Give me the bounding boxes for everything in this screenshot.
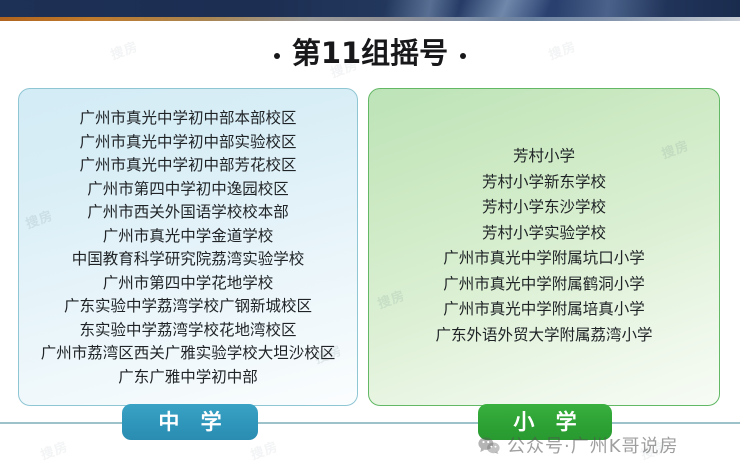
title-dot-right xyxy=(460,53,466,59)
title-dot-left xyxy=(274,53,280,59)
list-item: 广州市第四中学花地学校 xyxy=(19,272,357,296)
list-item: 芳村小学实验学校 xyxy=(369,221,719,247)
badge-connector-line xyxy=(370,422,478,424)
badge-connector-line xyxy=(0,422,122,424)
list-item: 广州市真光中学初中部本部校区 xyxy=(19,107,357,131)
list-item: 广州市第四中学初中逸园校区 xyxy=(19,178,357,202)
list-item: 广州市真光中学金道学校 xyxy=(19,225,357,249)
list-item: 广州市真光中学初中部实验校区 xyxy=(19,131,357,155)
list-item: 广东外语外贸大学附属荔湾小学 xyxy=(369,323,719,349)
page-title-text: 第11组摇号 xyxy=(292,36,448,70)
list-item: 中国教育科学研究院荔湾实验学校 xyxy=(19,248,357,272)
account-watermark-text: 公众号·广州K哥说房 xyxy=(507,432,679,458)
list-item: 广东实验中学荔湾学校广钢新城校区 xyxy=(19,295,357,319)
list-item: 广东广雅中学初中部 xyxy=(19,366,357,390)
list-item: 芳村小学新东学校 xyxy=(369,170,719,196)
list-item: 芳村小学 xyxy=(369,144,719,170)
top-banner xyxy=(0,0,740,17)
account-watermark: 公众号·广州K哥说房 xyxy=(478,432,679,458)
panel-middle-schools: 搜房 搜房 广州市真光中学初中部本部校区 广州市真光中学初中部实验校区 广州市真… xyxy=(18,88,358,406)
list-item: 芳村小学东沙学校 xyxy=(369,195,719,221)
list-item: 广州市真光中学附属培真小学 xyxy=(369,297,719,323)
badge-connector-line xyxy=(612,422,740,424)
list-item: 东实验中学荔湾学校花地湾校区 xyxy=(19,319,357,343)
list-item: 广州市西关外国语学校校本部 xyxy=(19,201,357,225)
page-root: 搜房 搜房 搜房 搜房 搜房 搜房 第11组摇号 搜房 搜房 广州市真光中学初中… xyxy=(0,0,740,469)
list-item: 广州市真光中学初中部芳花校区 xyxy=(19,154,357,178)
middle-school-list: 广州市真光中学初中部本部校区 广州市真光中学初中部实验校区 广州市真光中学初中部… xyxy=(19,89,357,389)
panel-primary-schools: 搜房 搜房 芳村小学 芳村小学新东学校 芳村小学东沙学校 芳村小学实验学校 广州… xyxy=(368,88,720,406)
top-accent-rule xyxy=(0,17,740,21)
list-item: 广州市真光中学附属鹤洞小学 xyxy=(369,272,719,298)
background-watermark: 搜房 xyxy=(248,436,281,463)
list-item: 广州市真光中学附属坑口小学 xyxy=(369,246,719,272)
wechat-icon xyxy=(478,436,500,455)
list-item: 广州市荔湾区西关广雅实验学校大坦沙校区 xyxy=(19,342,357,366)
badge-middle-school: 中 学 xyxy=(122,404,258,440)
primary-school-list: 芳村小学 芳村小学新东学校 芳村小学东沙学校 芳村小学实验学校 广州市真光中学附… xyxy=(369,89,719,348)
page-title: 第11组摇号 xyxy=(0,36,740,70)
background-watermark: 搜房 xyxy=(38,436,71,463)
badge-connector-line xyxy=(258,422,370,424)
